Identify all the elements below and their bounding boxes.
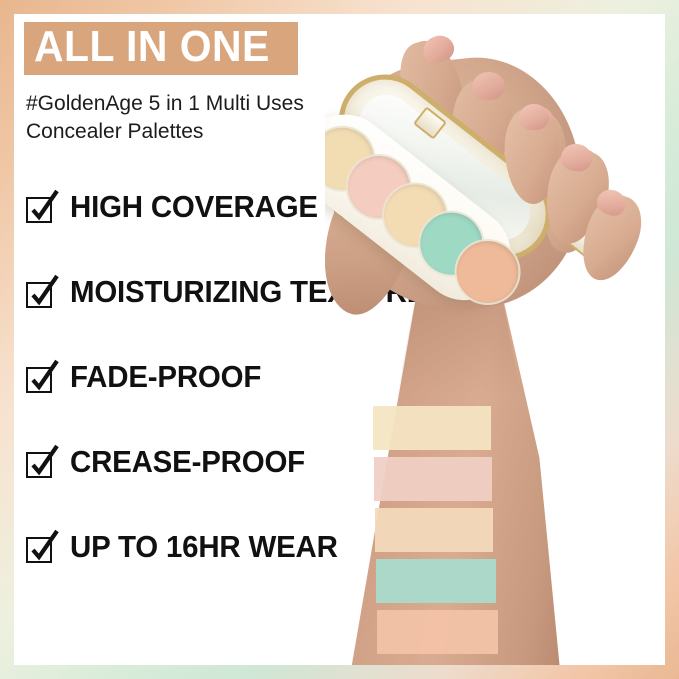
fingernail [519,103,550,130]
feature-label: FADE-PROOF [70,362,261,392]
feature-label: HIGH COVERAGE [70,192,318,222]
feature-label: UP TO 16HR WEAR [70,532,338,562]
feature-label: CREASE-PROOF [70,447,305,477]
swatch-soft-pink [374,457,492,501]
subtitle-line-1: #GoldenAge 5 in 1 Multi Uses [26,90,366,118]
subtitle-line-2: Concealer Palettes [26,118,366,146]
banner-title: ALL IN ONE [34,25,270,69]
white-page-panel: ALL IN ONE #GoldenAge 5 in 1 Multi Uses … [14,14,665,665]
swatch-peach [377,610,498,654]
swatch-pale-beige [375,508,493,552]
product-subtitle: #GoldenAge 5 in 1 Multi Uses Concealer P… [26,90,366,146]
concealer-palette [333,52,633,322]
checked-box-icon [26,535,56,565]
checked-box-icon [26,450,56,480]
checked-box-icon [26,195,56,225]
swatch-mint-green [376,559,496,603]
checked-box-icon [26,365,56,395]
checked-box-icon [26,280,56,310]
all-in-one-banner: ALL IN ONE [24,22,298,75]
product-photo [325,14,665,665]
swatch-cream-yellow [373,406,491,450]
product-feature-graphic: ALL IN ONE #GoldenAge 5 in 1 Multi Uses … [0,0,679,679]
